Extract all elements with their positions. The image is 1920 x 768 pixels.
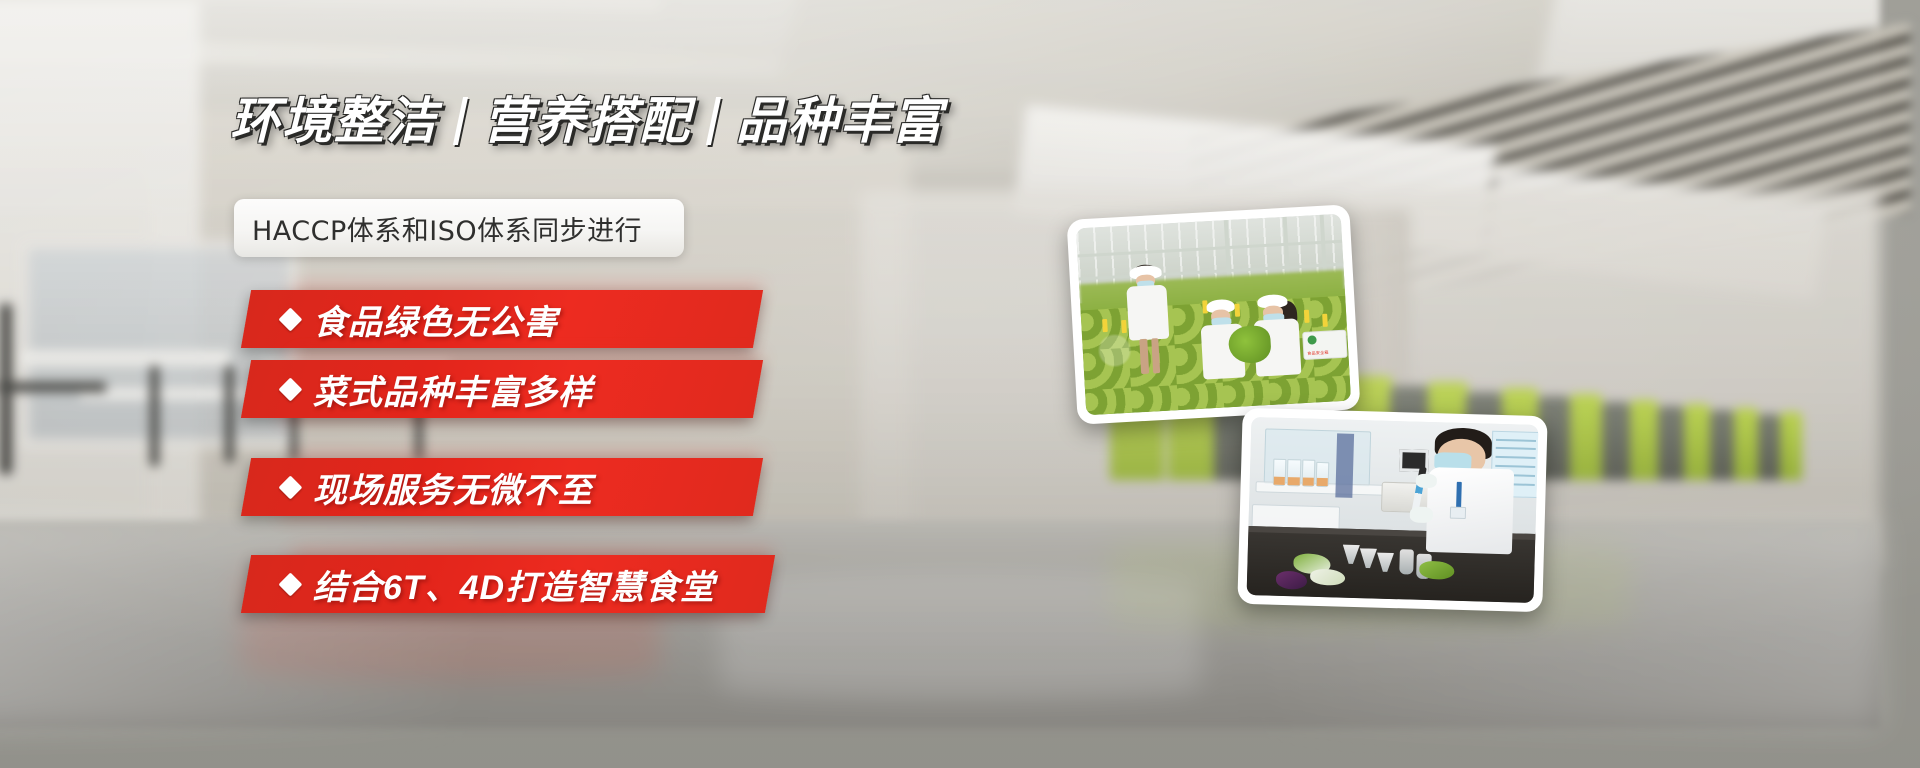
- standing-inspector: [1120, 261, 1177, 380]
- feature-row-1-label: 食品绿色无公害: [313, 295, 558, 344]
- diamond-bullet-icon: [278, 307, 302, 331]
- feature-list: 食品绿色无公害 菜式品种丰富多样 现场服务无微不至 结合6T、4D打造智慧食堂: [0, 0, 1920, 768]
- lab-curtain: [1335, 434, 1354, 499]
- promo-banner: 环境整洁 营养搭配 品种丰富 HACCP体系和ISO体系同步进行 食品绿色无公害…: [0, 0, 1920, 768]
- feature-row-3[interactable]: 现场服务无微不至: [241, 458, 763, 516]
- diamond-bullet-icon: [278, 377, 302, 401]
- feature-row-2-label: 菜式品种丰富多样: [313, 365, 593, 414]
- diamond-bullet-icon: [278, 572, 302, 596]
- feature-row-1[interactable]: 食品绿色无公害: [241, 290, 763, 348]
- greenhouse-inspection-photo: 食品安全箱: [1066, 204, 1360, 424]
- diamond-bullet-icon: [278, 475, 302, 499]
- feature-row-4-label: 结合6T、4D打造智慧食堂: [313, 560, 715, 609]
- feature-row-2[interactable]: 菜式品种丰富多样: [241, 360, 763, 418]
- feature-row-3-label: 现场服务无微不至: [313, 463, 593, 512]
- food-safety-case-label: 食品安全箱: [1307, 350, 1329, 357]
- lab-testing-photo: [1237, 408, 1547, 612]
- food-safety-case: 食品安全箱: [1302, 330, 1348, 361]
- feature-row-4[interactable]: 结合6T、4D打造智慧食堂: [241, 555, 775, 613]
